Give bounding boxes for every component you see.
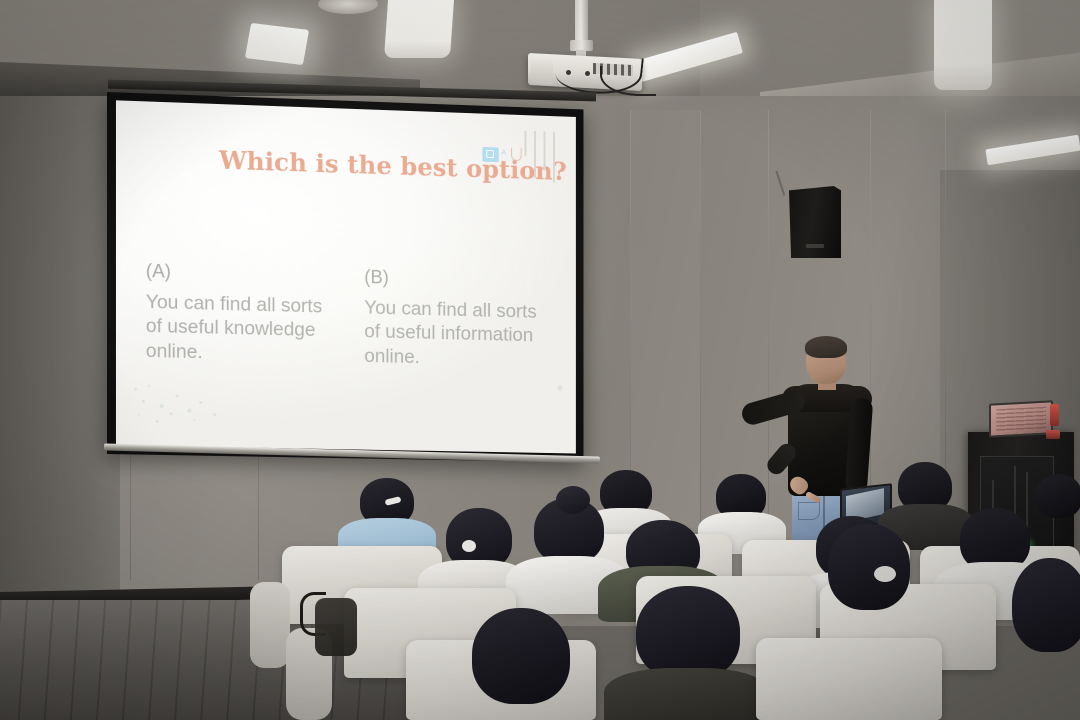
desk-item [1050,404,1059,426]
projector-mount-pole [575,0,588,42]
control-laptop [989,400,1053,437]
audience-head [472,608,570,704]
lecture-hall-photo: Which is the best option? A (A) You [0,0,1080,720]
option-a-key: (A) [146,261,337,288]
scrunchie [874,566,896,582]
decoration-line [553,132,555,183]
slide-options: (A) You can find all sorts of useful kno… [146,261,551,372]
decoration-line [544,131,546,170]
hair-tie [462,540,476,552]
decoration-line [525,131,527,156]
recessed-panel-light [245,23,309,65]
pendant-light [384,0,454,58]
decoration-hook [511,148,522,161]
slide-decoration: A [482,129,560,192]
slide-corner-glyph: e [558,383,563,393]
option-b-key: (B) [364,267,551,294]
auditorium-seat[interactable] [756,638,942,720]
option-a-text: You can find all sorts of useful knowled… [146,290,337,368]
seat-armrest [250,582,290,668]
presenter-glasses [808,353,844,359]
audience-head [636,586,740,680]
wall-panel-seam [700,110,701,580]
decoration-chip-icon [482,147,498,162]
backpack [315,598,357,656]
projection-screen: Which is the best option? A (A) You [107,92,583,462]
presenter-pocket [798,502,820,520]
option-b: (B) You can find all sorts of useful inf… [364,267,551,372]
audience-head [1012,558,1080,652]
desk-item [1046,430,1060,439]
decoration-line [534,131,536,178]
option-a: (A) You can find all sorts of useful kno… [146,261,337,368]
slide-dot-pattern [130,381,249,437]
speaker-badge [806,244,824,248]
decoration-label: A [502,150,507,157]
audience-shoulders [604,668,770,720]
option-b-text: You can find all sorts of useful informa… [364,296,551,373]
slide-surface: Which is the best option? A (A) You [116,100,576,453]
control-laptop-screen-text [996,407,1046,434]
audience-head [1036,474,1080,518]
presentation-slide: Which is the best option? A (A) You [116,100,576,453]
audience-head [828,524,910,610]
decoration-chip-inner [486,150,494,158]
pendant-light [934,0,992,90]
hair-bun [556,486,590,514]
control-laptop-lid [989,400,1053,437]
projector-lens [531,59,553,84]
left-wall [0,96,120,626]
